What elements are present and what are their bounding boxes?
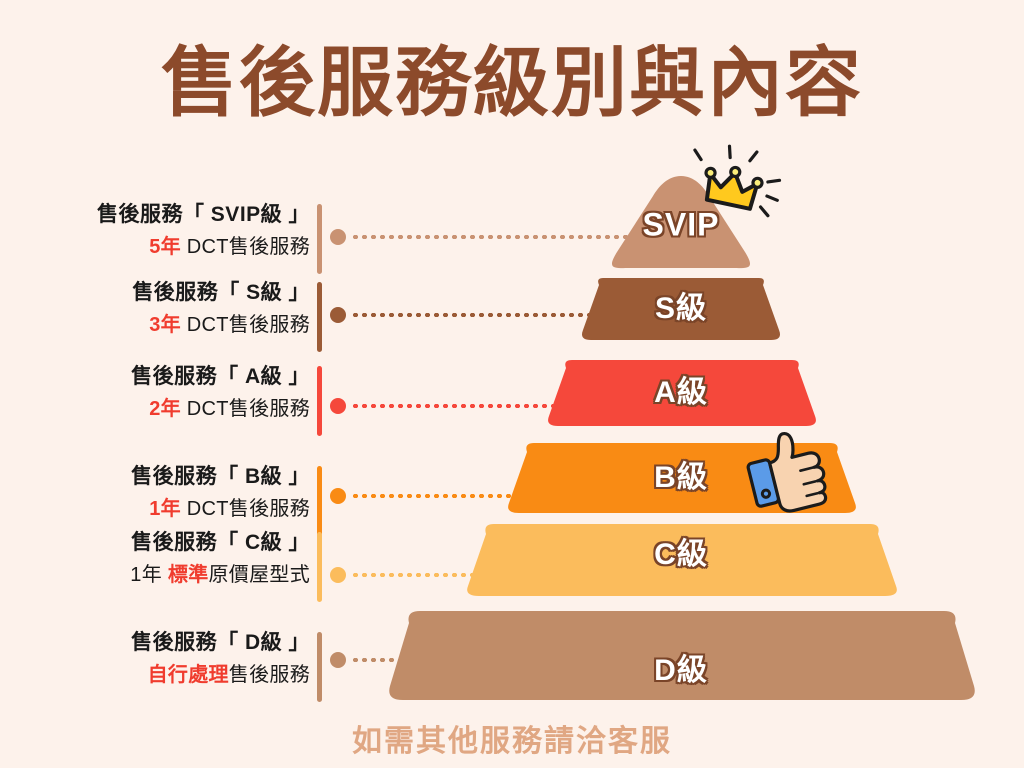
legend-title-b: 售後服務「 B級 」 [10, 462, 310, 492]
legend-row-c[interactable]: 售後服務「 C級 」 1年 標準原價屋型式 [0, 528, 332, 612]
legend-divider-svip [317, 204, 322, 274]
tier-badge-b: B級 [654, 452, 708, 496]
legend-detail-pre-c: 1年 [130, 564, 168, 586]
legend-divider-s [317, 282, 322, 352]
tier-badge-svip: SVIP [643, 207, 720, 244]
connector-line-s [351, 313, 602, 317]
legend-text-s: 售後服務「 S級 」 3年 DCT售後服務 [10, 278, 310, 340]
legend-detail-highlight-svip: 5年 [149, 236, 181, 258]
connector-line-b [351, 494, 530, 498]
legend-detail-d: 自行處理售後服務 [10, 660, 310, 690]
connector-line-svip [351, 235, 640, 239]
connector-d [330, 651, 418, 669]
connector-s [330, 306, 602, 324]
legend-text-svip: 售後服務「 SVIP級 」 5年 DCT售後服務 [10, 200, 310, 262]
legend-text-b: 售後服務「 B級 」 1年 DCT售後服務 [10, 462, 310, 524]
legend-detail-c: 1年 標準原價屋型式 [10, 560, 310, 590]
legend-detail-highlight-b: 1年 [149, 498, 181, 520]
connector-b [330, 487, 530, 505]
legend-title-s: 售後服務「 S級 」 [10, 278, 310, 308]
connector-dot-a [330, 398, 346, 414]
legend-detail-highlight-s: 3年 [149, 314, 181, 336]
tier-badge-s: S級 [655, 283, 707, 327]
legend-row-d[interactable]: 售後服務「 D級 」 自行處理售後服務 [0, 628, 332, 712]
connector-dot-s [330, 307, 346, 323]
legend-row-a[interactable]: 售後服務「 A級 」 2年 DCT售後服務 [0, 362, 332, 446]
legend-detail-rest-svip: DCT售後服務 [181, 236, 310, 258]
legend-title-svip: 售後服務「 SVIP級 」 [10, 200, 310, 230]
connector-dot-svip [330, 229, 346, 245]
legend-detail-rest-a: DCT售後服務 [181, 398, 310, 420]
legend-detail-b: 1年 DCT售後服務 [10, 494, 310, 524]
connector-dot-b [330, 488, 346, 504]
page-title: 售後服務級別與內容 [0, 44, 1024, 124]
crown-icon [685, 139, 786, 217]
connector-svip [330, 228, 640, 246]
legend-divider-d [317, 632, 322, 702]
legend-detail-highlight-d: 自行處理 [148, 664, 229, 686]
legend-detail-a: 2年 DCT售後服務 [10, 394, 310, 424]
legend-text-a: 售後服務「 A級 」 2年 DCT售後服務 [10, 362, 310, 424]
connector-line-c [351, 573, 492, 577]
legend-title-c: 售後服務「 C級 」 [10, 528, 310, 558]
footer-note: 如需其他服務請洽客服 [0, 716, 1024, 760]
tier-badge-d: D級 [654, 645, 708, 689]
thumbs-up-icon [742, 426, 831, 518]
connector-dot-d [330, 652, 346, 668]
connector-c [330, 566, 492, 584]
legend-row-s[interactable]: 售後服務「 S級 」 3年 DCT售後服務 [0, 278, 332, 362]
legend-detail-rest-b: DCT售後服務 [181, 498, 310, 520]
legend-title-a: 售後服務「 A級 」 [10, 362, 310, 392]
connector-line-a [351, 404, 568, 408]
connector-dot-c [330, 567, 346, 583]
legend-text-c: 售後服務「 C級 」 1年 標準原價屋型式 [10, 528, 310, 590]
legend-divider-c [317, 532, 322, 602]
tier-badge-c: C級 [654, 529, 708, 573]
legend-row-svip[interactable]: 售後服務「 SVIP級 」 5年 DCT售後服務 [0, 200, 332, 284]
legend-text-d: 售後服務「 D級 」 自行處理售後服務 [10, 628, 310, 690]
legend-detail-highlight-c: 標準 [168, 564, 209, 586]
infographic-canvas: 售後服務級別與內容 [0, 0, 1024, 768]
connector-line-d [351, 658, 418, 662]
legend-detail-highlight-a: 2年 [149, 398, 181, 420]
legend-detail-rest-d: 售後服務 [229, 664, 310, 686]
connector-a [330, 397, 568, 415]
legend-detail-rest-s: DCT售後服務 [181, 314, 310, 336]
legend-divider-b [317, 466, 322, 536]
tier-badge-a: A級 [654, 367, 708, 411]
legend-detail-svip: 5年 DCT售後服務 [10, 232, 310, 262]
legend-divider-a [317, 366, 322, 436]
legend-detail-rest-c: 原價屋型式 [209, 564, 311, 586]
legend-detail-s: 3年 DCT售後服務 [10, 310, 310, 340]
legend-title-d: 售後服務「 D級 」 [10, 628, 310, 658]
